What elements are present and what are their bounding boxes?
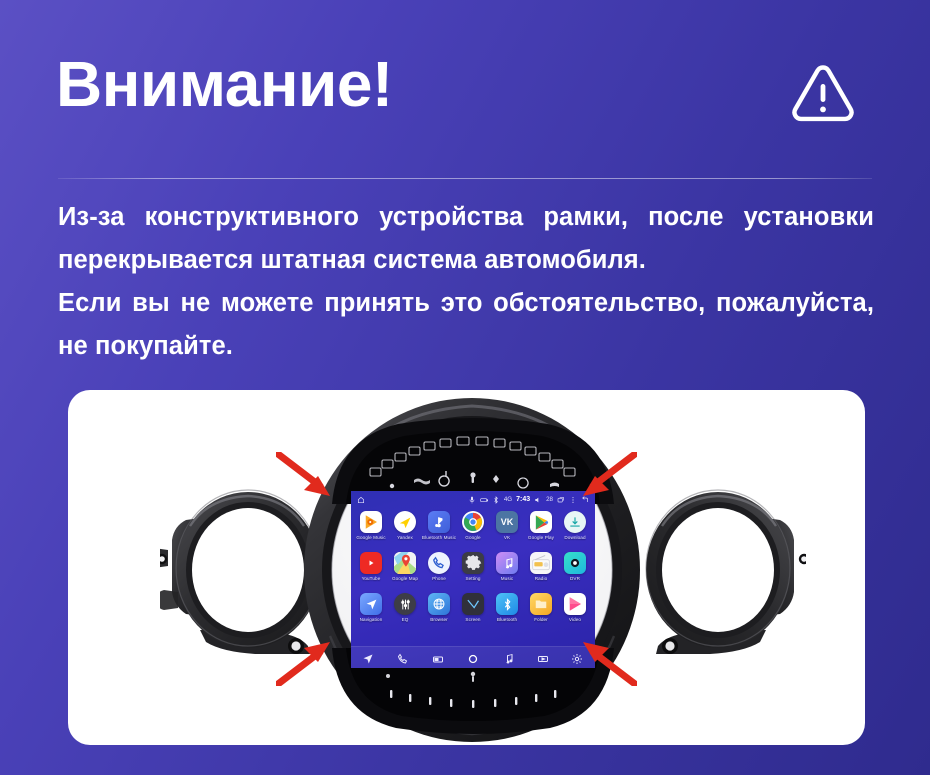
app-label: Setting bbox=[465, 576, 480, 581]
app-label: YouTube bbox=[362, 576, 381, 581]
warning-line-1: Из-за конструктивного устройства рамки, … bbox=[58, 196, 874, 239]
warning-line-3: Если вы не можете принять это обстоятель… bbox=[58, 282, 874, 325]
app-label: Google Music bbox=[356, 535, 385, 540]
dock-phone-icon[interactable] bbox=[397, 652, 409, 664]
app-screen[interactable]: Screen bbox=[459, 593, 487, 634]
network-label: 4G bbox=[504, 496, 512, 503]
equalizer-icon bbox=[394, 593, 416, 615]
folder-icon bbox=[530, 593, 552, 615]
bluetooth-icon bbox=[496, 593, 518, 615]
warning-line-2: перекрывается штатная система автомобиля… bbox=[58, 239, 874, 282]
app-yandex[interactable]: Yandex bbox=[391, 511, 419, 552]
app-label: Google Map bbox=[392, 576, 418, 581]
app-label: Google Play bbox=[528, 535, 554, 540]
radio-icon bbox=[530, 552, 552, 574]
app-label: Music bbox=[501, 576, 514, 581]
battery-icon bbox=[480, 496, 488, 504]
dvr-camera-icon bbox=[564, 552, 586, 574]
warning-line-4: не покупайте. bbox=[58, 325, 874, 368]
google-maps-icon bbox=[394, 552, 416, 574]
dock-music-note-icon[interactable] bbox=[502, 652, 514, 664]
app-music[interactable]: Music bbox=[493, 552, 521, 593]
app-label: Bluetooth bbox=[497, 617, 517, 622]
dock-settings-gear-icon[interactable] bbox=[571, 652, 583, 664]
dock-video-icon[interactable] bbox=[537, 652, 549, 664]
header: Внимание! bbox=[56, 52, 890, 160]
warning-text-block: Из-за конструктивного устройства рамки, … bbox=[58, 196, 874, 368]
google-music-icon bbox=[360, 511, 382, 533]
volume-icon[interactable] bbox=[534, 496, 542, 504]
recent-apps-icon[interactable] bbox=[557, 496, 565, 504]
youtube-icon bbox=[360, 552, 382, 574]
product-photo-card: 4G 7:43 28 bbox=[68, 390, 865, 745]
app-label: Screen bbox=[465, 617, 480, 622]
vk-icon: VK bbox=[496, 511, 518, 533]
app-dvr[interactable]: DVR bbox=[561, 552, 589, 593]
app-radio[interactable]: Radio bbox=[527, 552, 555, 593]
bluetooth-icon bbox=[492, 496, 500, 504]
warning-triangle-icon bbox=[786, 58, 860, 132]
app-eq[interactable]: EQ bbox=[391, 593, 419, 634]
phone-icon bbox=[428, 552, 450, 574]
app-setting[interactable]: Setting bbox=[459, 552, 487, 593]
home-icon[interactable] bbox=[357, 496, 365, 504]
app-label: Navigation bbox=[360, 617, 383, 622]
page-title: Внимание! bbox=[56, 52, 890, 116]
navigation-arrow-icon bbox=[360, 593, 382, 615]
app-label: Radio bbox=[535, 576, 548, 581]
app-google-music[interactable]: Google Music bbox=[357, 511, 385, 552]
app-grid: Google Music Yandex Blueto bbox=[351, 509, 595, 646]
app-label: Video bbox=[569, 617, 581, 622]
more-vertical-icon[interactable] bbox=[569, 496, 577, 504]
promo-slide: Внимание! Из-за конструктивного устройст… bbox=[0, 0, 930, 775]
app-vk[interactable]: VK VK bbox=[493, 511, 521, 552]
app-bluetooth-music[interactable]: Bluetooth Music bbox=[425, 511, 453, 552]
head-unit-screen[interactable]: 4G 7:43 28 bbox=[351, 491, 595, 668]
app-label: Bluetooth Music bbox=[422, 535, 456, 540]
download-icon bbox=[564, 511, 586, 533]
screen-icon bbox=[462, 593, 484, 615]
dock-radio-icon[interactable] bbox=[432, 652, 444, 664]
dock-home-circle-icon[interactable] bbox=[467, 652, 479, 664]
video-play-icon bbox=[564, 593, 586, 615]
app-google[interactable]: Google bbox=[459, 511, 487, 552]
app-row: Navigation EQ bbox=[355, 593, 591, 634]
app-label: Phone bbox=[432, 576, 446, 581]
right-vent-ring bbox=[640, 482, 806, 658]
app-label: Yandex bbox=[397, 535, 413, 540]
app-label: EQ bbox=[402, 617, 409, 622]
music-note-icon bbox=[496, 552, 518, 574]
back-arrow-icon[interactable] bbox=[581, 496, 589, 504]
app-folder[interactable]: Folder bbox=[527, 593, 555, 634]
bottom-dock bbox=[351, 646, 595, 668]
product-photo: 4G 7:43 28 bbox=[68, 390, 865, 745]
header-divider bbox=[58, 178, 872, 179]
app-video[interactable]: Video bbox=[561, 593, 589, 634]
google-chrome-icon bbox=[462, 511, 484, 533]
app-label: Download bbox=[564, 535, 585, 540]
status-clock: 7:43 bbox=[516, 496, 530, 503]
app-google-play[interactable]: Google Play bbox=[527, 511, 555, 552]
app-navigation[interactable]: Navigation bbox=[357, 593, 385, 634]
google-play-icon bbox=[530, 511, 552, 533]
app-label: Google bbox=[465, 535, 480, 540]
app-download[interactable]: Download bbox=[561, 511, 589, 552]
microphone-icon[interactable] bbox=[468, 496, 476, 504]
app-browser[interactable]: Browser bbox=[425, 593, 453, 634]
app-google-map[interactable]: Google Map bbox=[391, 552, 419, 593]
app-row: Google Music Yandex Blueto bbox=[355, 511, 591, 552]
app-bluetooth[interactable]: Bluetooth bbox=[493, 593, 521, 634]
app-label: VK bbox=[504, 535, 510, 540]
app-label: Folder bbox=[534, 617, 548, 622]
app-phone[interactable]: Phone bbox=[425, 552, 453, 593]
app-label: Browser bbox=[430, 617, 448, 622]
app-youtube[interactable]: YouTube bbox=[357, 552, 385, 593]
globe-icon bbox=[428, 593, 450, 615]
bluetooth-music-icon bbox=[428, 511, 450, 533]
settings-gear-icon bbox=[462, 552, 484, 574]
yandex-icon bbox=[394, 511, 416, 533]
dock-navigation-arrow-icon[interactable] bbox=[362, 652, 374, 664]
android-status-bar: 4G 7:43 28 bbox=[351, 491, 595, 508]
app-row: YouTube bbox=[355, 552, 591, 593]
volume-level: 28 bbox=[546, 496, 553, 503]
app-label: DVR bbox=[570, 576, 580, 581]
